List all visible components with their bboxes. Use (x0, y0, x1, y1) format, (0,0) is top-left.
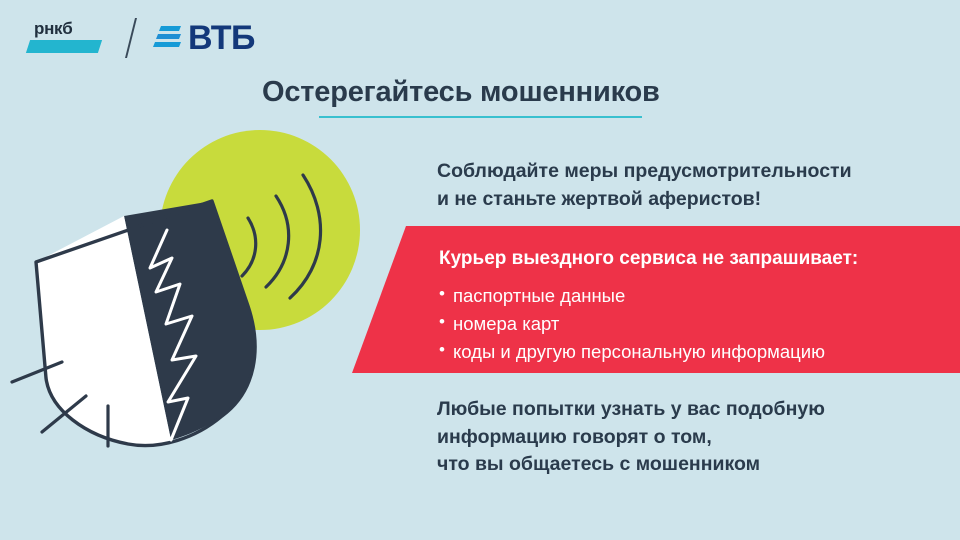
list-item: номера карт (439, 310, 949, 338)
list-item: паспортные данные (439, 282, 949, 310)
brand-logo-bar: рнкб ВТБ (28, 14, 255, 62)
vtb-logo: ВТБ (154, 21, 255, 55)
page-title: Остерегайтесь мошенников (262, 76, 682, 109)
warning-banner-heading: Курьер выездного сервиса не запрашивает: (439, 248, 949, 271)
lead-line-1: Соблюдайте меры предусмотрительности (437, 158, 917, 186)
warning-banner: Курьер выездного сервиса не запрашивает:… (340, 226, 960, 376)
warning-banner-content: Курьер выездного сервиса не запрашивает:… (439, 248, 949, 367)
footer-line-2: информацию говорят о том, (437, 424, 927, 452)
vtb-logo-text: ВТБ (188, 21, 255, 55)
footer-paragraph: Любые попытки узнать у вас подобную инфо… (437, 396, 927, 479)
vtb-bars-icon (154, 24, 182, 50)
slide-root: рнкб ВТБ Остерегайтесь мошенников (0, 0, 960, 540)
lead-paragraph: Соблюдайте меры предусмотрительности и н… (437, 158, 917, 213)
rnkb-logo-text: рнкб (34, 20, 72, 37)
footer-line-3: что вы общаетесь с мошенником (437, 451, 927, 479)
rnkb-logo: рнкб (28, 18, 104, 58)
list-item: коды и другую персональную информацию (439, 338, 949, 366)
lead-line-2: и не станьте жертвой аферистов! (437, 186, 917, 214)
footer-line-1: Любые попытки узнать у вас подобную (437, 396, 927, 424)
rnkb-logo-bar-shape (26, 40, 102, 53)
warning-banner-list: паспортные данные номера карт коды и дру… (439, 282, 949, 367)
logo-divider (125, 18, 137, 58)
